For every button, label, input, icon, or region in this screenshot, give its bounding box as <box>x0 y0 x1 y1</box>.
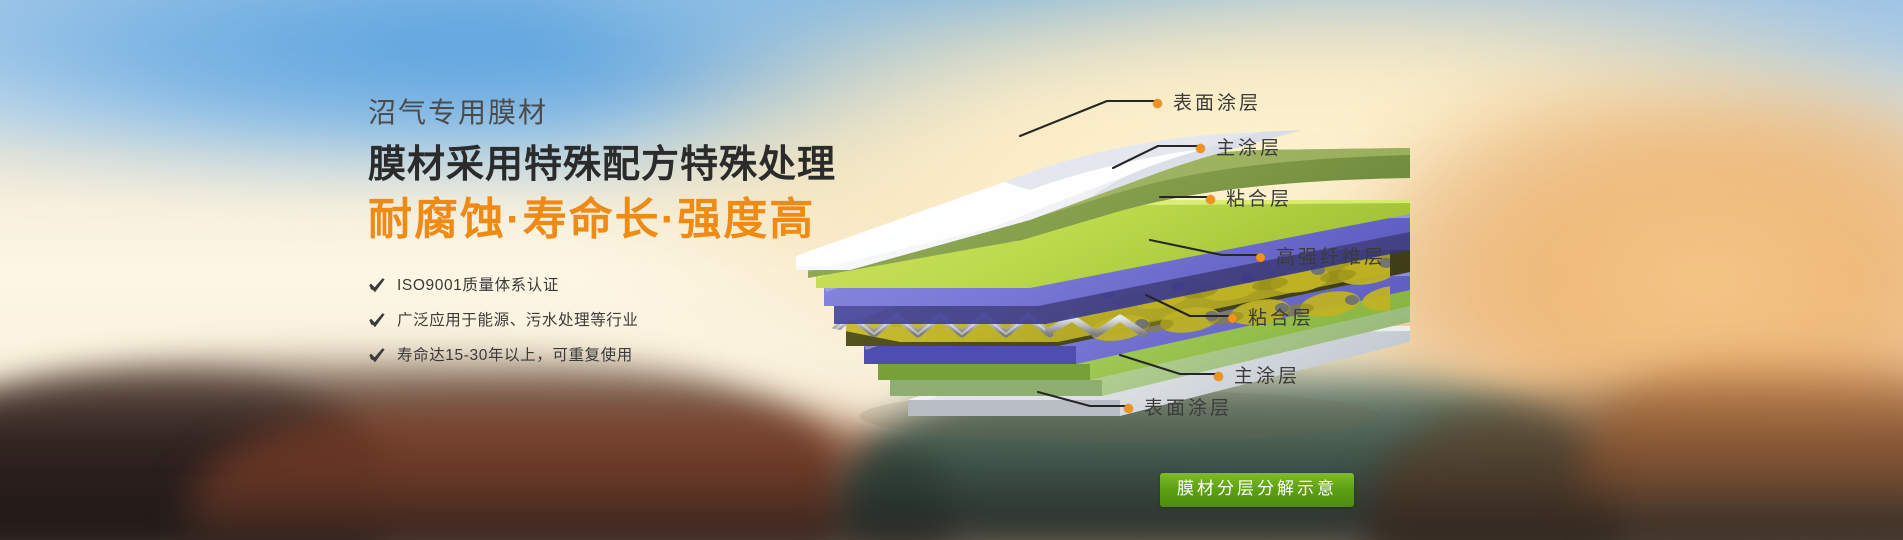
callout-label: 主涂层 <box>1216 139 1282 158</box>
callout-dot-icon <box>1196 144 1205 153</box>
callout-fiber-layer[interactable]: 高强纤维层 <box>1256 248 1386 267</box>
callout-adhesive-layer-bottom[interactable]: 粘合层 <box>1228 309 1314 328</box>
callout-label: 主涂层 <box>1234 367 1300 386</box>
callout-dot-icon <box>1153 99 1162 108</box>
check-icon <box>368 312 386 330</box>
membrane-layers-illustration <box>790 128 1410 458</box>
badge-label: 膜材分层分解示意 <box>1177 479 1337 498</box>
callout-dot-icon <box>1214 372 1223 381</box>
callout-label: 粘合层 <box>1248 309 1314 328</box>
headline-text: 膜材采用特殊配方特殊处理 <box>368 142 838 188</box>
list-item-label: 广泛应用于能源、污水处理等行业 <box>397 313 639 329</box>
callout-label: 表面涂层 <box>1144 399 1232 418</box>
list-item-label: ISO9001质量体系认证 <box>397 278 559 294</box>
callout-main-coating-bottom[interactable]: 主涂层 <box>1214 367 1300 386</box>
feature-list: ISO9001质量体系认证 广泛应用于能源、污水处理等行业 <box>368 277 838 365</box>
check-icon <box>368 347 386 365</box>
diagram-caption-badge: 膜材分层分解示意 <box>1160 473 1354 507</box>
kicker-text: 沼气专用膜材 <box>368 96 838 130</box>
list-item: 广泛应用于能源、污水处理等行业 <box>368 312 838 330</box>
copy-block: 沼气专用膜材 膜材采用特殊配方特殊处理 耐腐蚀·寿命长·强度高 ISO9001质… <box>368 96 838 382</box>
callout-adhesive-layer-top[interactable]: 粘合层 <box>1206 190 1292 209</box>
callout-dot-icon <box>1124 404 1133 413</box>
list-item: 寿命达15-30年以上，可重复使用 <box>368 347 838 365</box>
check-icon <box>368 277 386 295</box>
bottom-vignette <box>0 480 1903 540</box>
callout-surface-coating-bottom[interactable]: 表面涂层 <box>1124 399 1232 418</box>
headline-accent-text: 耐腐蚀·寿命长·强度高 <box>368 194 838 247</box>
callout-label: 表面涂层 <box>1173 94 1261 113</box>
callout-label: 粘合层 <box>1226 190 1292 209</box>
callout-dot-icon <box>1228 314 1237 323</box>
hero-banner: 沼气专用膜材 膜材采用特殊配方特殊处理 耐腐蚀·寿命长·强度高 ISO9001质… <box>0 0 1903 540</box>
callout-surface-coating-top[interactable]: 表面涂层 <box>1153 94 1261 113</box>
list-item: ISO9001质量体系认证 <box>368 277 838 295</box>
callout-main-coating-top[interactable]: 主涂层 <box>1196 139 1282 158</box>
callout-dot-icon <box>1256 253 1265 262</box>
callout-label: 高强纤维层 <box>1276 248 1386 267</box>
callout-dot-icon <box>1206 195 1215 204</box>
list-item-label: 寿命达15-30年以上，可重复使用 <box>397 348 633 364</box>
